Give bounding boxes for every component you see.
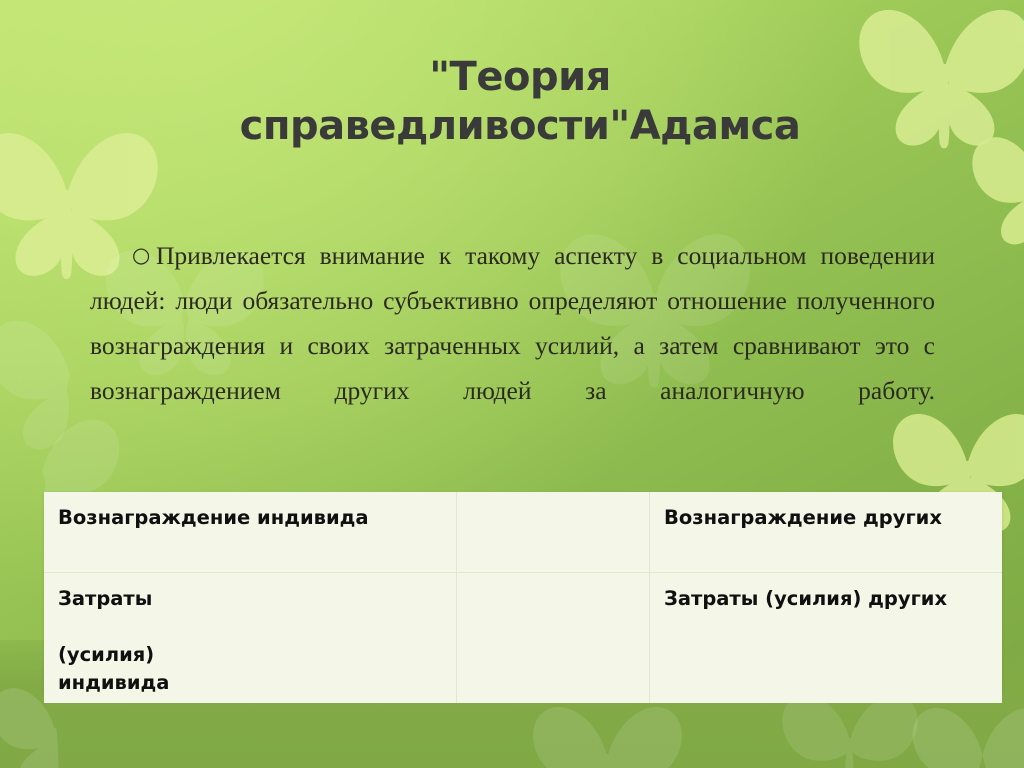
table-cell-effort-others: Затраты (усилия) других — [650, 572, 1003, 703]
table-row: Вознаграждение индивида Вознаграждение д… — [44, 492, 1002, 572]
table-cell-divider-top — [457, 492, 650, 572]
body-bullet-paragraph: ○Привлекается внимание к такому аспекту … — [90, 233, 935, 458]
table-cell-divider-bottom — [457, 572, 650, 703]
hollow-circle-bullet-icon: ○ — [132, 245, 156, 266]
body-paragraph-text: Привлекается внимание к такому аспекту в… — [90, 241, 935, 405]
table-cell-reward-others: Вознаграждение других — [650, 492, 1003, 572]
table-cell-effort-individual: Затраты(усилия)индивида — [44, 572, 457, 703]
slide-canvas: "Теория справедливости"Адамса ○Привлекае… — [0, 0, 1024, 768]
table-cell-effort-individual-word2: (усилия) — [58, 643, 154, 666]
table-cell-effort-individual-word1: Затраты — [58, 587, 152, 610]
comparison-table: Вознаграждение индивида Вознаграждение д… — [44, 492, 1002, 703]
body-content-block: ○Привлекается внимание к такому аспекту … — [90, 233, 935, 458]
table-cell-reward-individual: Вознаграждение индивида — [44, 492, 457, 572]
comparison-table-container: Вознаграждение индивида Вознаграждение д… — [44, 492, 1002, 693]
table-row: Затраты(усилия)индивида Затраты (усилия)… — [44, 572, 1002, 703]
table-cell-effort-individual-word3: индивида — [58, 671, 169, 694]
slide-title: "Теория справедливости"Адамса — [120, 53, 920, 151]
